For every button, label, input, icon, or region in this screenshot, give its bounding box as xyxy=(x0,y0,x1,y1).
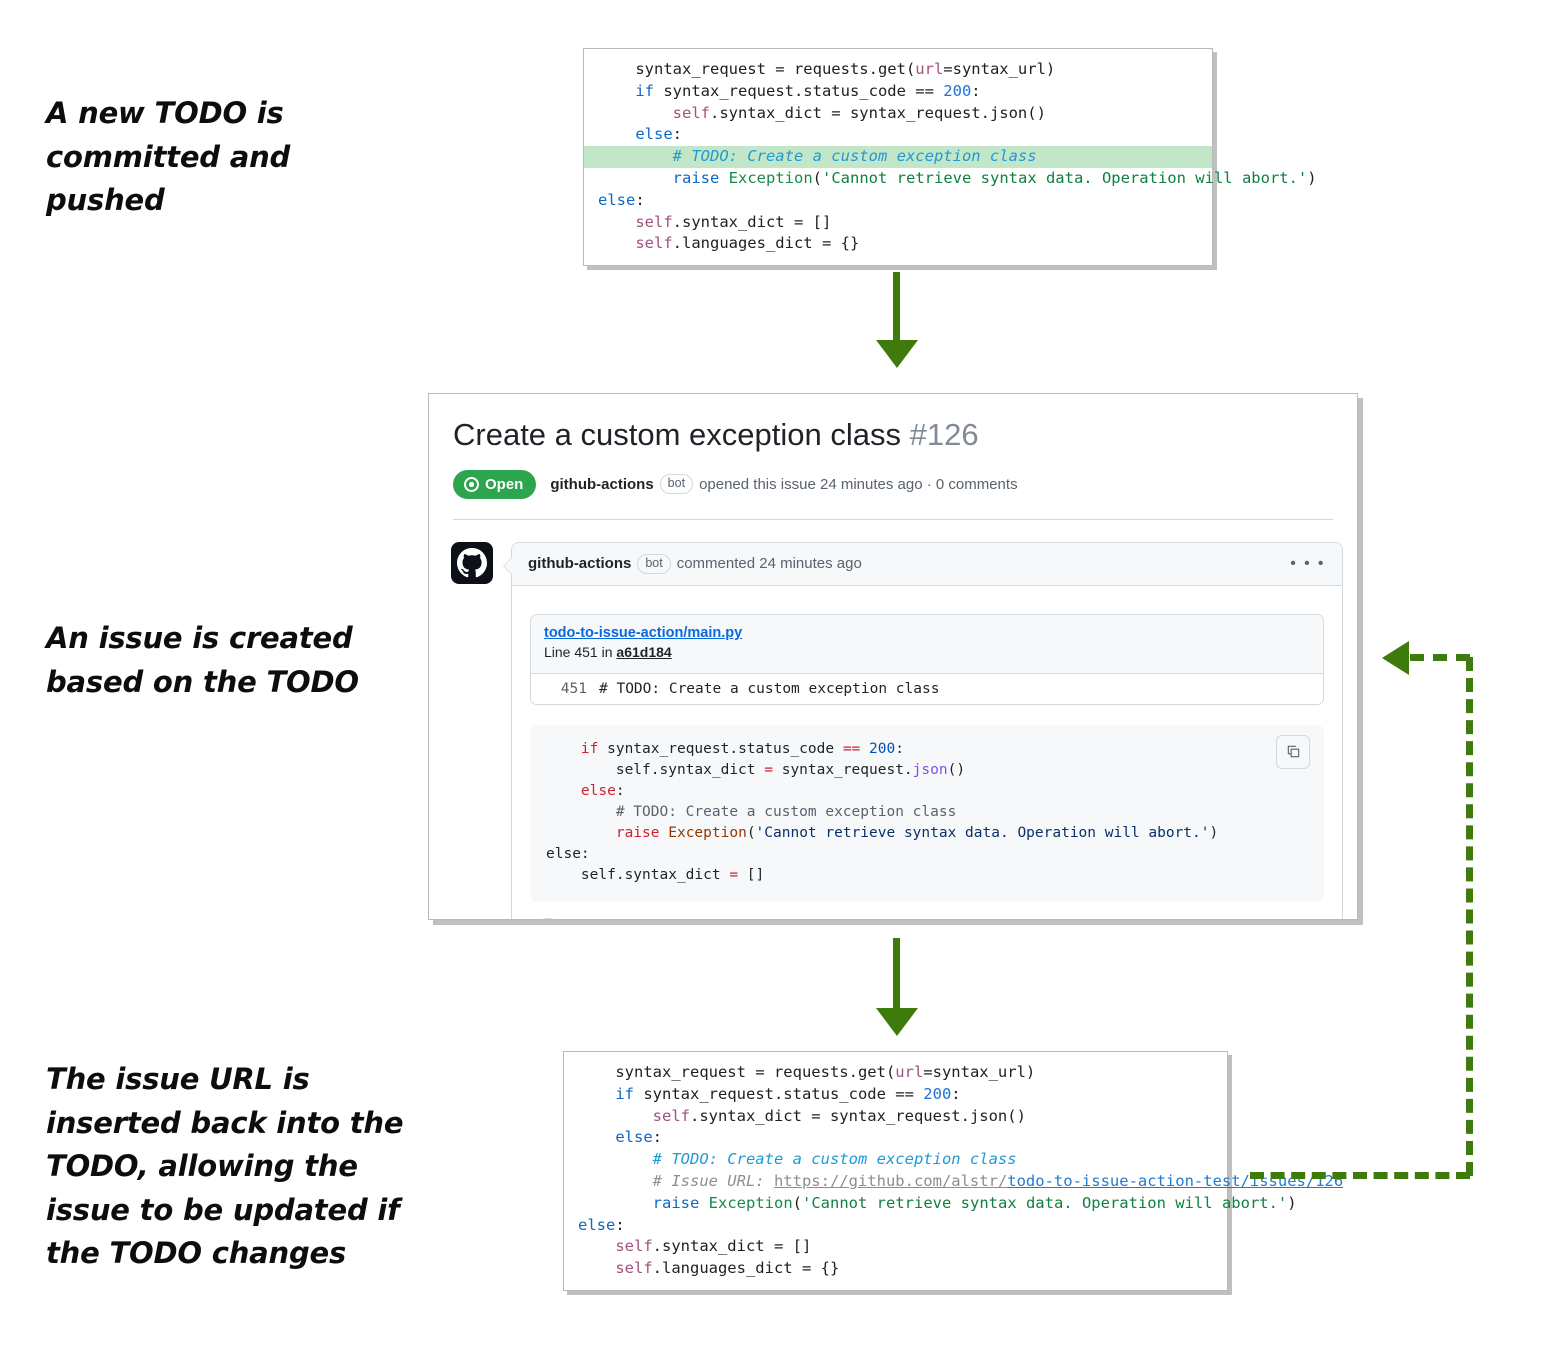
code-token: # Issue URL: xyxy=(578,1172,774,1190)
code-token xyxy=(578,1085,615,1103)
code-token: : xyxy=(653,1128,662,1146)
code-token xyxy=(598,169,673,187)
code-token: https://github.com/alstr/ xyxy=(774,1172,1007,1190)
code-line: else: xyxy=(584,124,1212,146)
code-token: Exception xyxy=(668,825,747,841)
code-token xyxy=(546,741,581,757)
code-token xyxy=(578,1237,615,1255)
diagram-canvas: A new TODO is committed and pushed An is… xyxy=(0,0,1543,1351)
comment-box: github-actions bot commented 24 minutes … xyxy=(511,542,1343,920)
copy-button[interactable] xyxy=(1276,735,1310,769)
code-fence-lines: if syntax_request.status_code == 200: se… xyxy=(530,739,1324,886)
arrow-down-commit-to-issue xyxy=(873,272,919,368)
code-token: if xyxy=(615,1085,634,1103)
snippet-header: todo-to-issue-action/main.py Line 451 in… xyxy=(531,615,1323,674)
code-fence: if syntax_request.status_code == 200: se… xyxy=(530,725,1324,902)
code-token xyxy=(578,1259,615,1277)
issue-meta-text: opened this issue 24 minutes ago · 0 com… xyxy=(699,476,1018,493)
issue-header: Create a custom exception class #126 Ope… xyxy=(429,394,1357,520)
fence-line: if syntax_request.status_code == 200: xyxy=(530,739,1324,760)
fence-line: else: xyxy=(530,781,1324,802)
code-token: else xyxy=(598,191,635,209)
status-badge-open[interactable]: Open xyxy=(453,470,536,499)
code-token: self xyxy=(635,213,672,231)
code-token: [] xyxy=(738,867,764,883)
code-token: : xyxy=(971,82,980,100)
code-line: # TODO: Create a custom exception class xyxy=(584,146,1212,168)
arrow-down-issue-to-update xyxy=(873,938,919,1038)
code-lines-before: syntax_request = requests.get(url=syntax… xyxy=(584,59,1212,255)
issue-number: #126 xyxy=(910,417,979,452)
comment-bot-label: bot xyxy=(637,554,670,574)
code-token: # TODO: Create a custom exception class xyxy=(598,147,1037,165)
code-token: self xyxy=(653,1107,690,1125)
code-token xyxy=(598,125,635,143)
code-line: else: xyxy=(564,1215,1227,1237)
code-token: else: xyxy=(546,846,590,862)
code-token: syntax_request. xyxy=(773,762,913,778)
issue-meta: Open github-actions bot opened this issu… xyxy=(453,470,1333,499)
snippet-commit-sha[interactable]: a61d184 xyxy=(616,644,671,660)
code-token: else xyxy=(578,1216,615,1234)
code-line: else: xyxy=(584,190,1212,212)
code-line: # Issue URL: https://github.com/alstr/to… xyxy=(564,1171,1227,1193)
code-token xyxy=(598,213,635,231)
code-token xyxy=(598,104,673,122)
fence-line: self.syntax_dict = [] xyxy=(530,865,1324,886)
code-token: 'Cannot retrieve syntax data. Operation … xyxy=(756,825,1210,841)
snippet-file-link[interactable]: todo-to-issue-action/main.py xyxy=(544,624,1310,644)
comment-author[interactable]: github-actions xyxy=(528,555,631,572)
code-token: () xyxy=(948,762,965,778)
code-token: raise xyxy=(616,825,660,841)
fence-line: raise Exception('Cannot retrieve syntax … xyxy=(530,823,1324,844)
caption-issue-url-inserted: The issue URL is inserted back into the … xyxy=(46,1058,416,1276)
code-line: raise Exception('Cannot retrieve syntax … xyxy=(584,168,1212,190)
code-token: ( xyxy=(793,1194,802,1212)
code-token: == xyxy=(843,741,860,757)
code-token: ) xyxy=(1210,825,1219,841)
code-token: syntax_request.status_code == xyxy=(654,82,943,100)
code-block-before: syntax_request = requests.get(url=syntax… xyxy=(583,48,1213,266)
code-token: : xyxy=(635,191,644,209)
code-token: raise xyxy=(673,169,720,187)
code-lines-after: syntax_request = requests.get(url=syntax… xyxy=(564,1062,1227,1280)
code-token: # TODO: Create a custom exception class xyxy=(578,1150,1017,1168)
code-token: .syntax_dict = [] xyxy=(653,1237,812,1255)
code-token xyxy=(598,234,635,252)
code-token xyxy=(578,1194,653,1212)
snippet-line-prefix: Line 451 in xyxy=(544,644,616,660)
code-token xyxy=(860,741,869,757)
code-token: 200 xyxy=(943,82,971,100)
code-token: .syntax_dict = syntax_request.json() xyxy=(690,1107,1026,1125)
code-token: 200 xyxy=(923,1085,951,1103)
code-token: if xyxy=(581,741,598,757)
issue-title: Create a custom exception class #126 xyxy=(453,416,1333,455)
code-token: : xyxy=(895,741,904,757)
code-line: if syntax_request.status_code == 200: xyxy=(564,1084,1227,1106)
snippet-code-row: 451 # TODO: Create a custom exception cl… xyxy=(531,674,1323,704)
copy-icon xyxy=(1286,744,1301,759)
code-token: url xyxy=(895,1063,923,1081)
code-line: syntax_request = requests.get(url=syntax… xyxy=(584,59,1212,81)
code-token xyxy=(699,1194,708,1212)
code-line: self.languages_dict = {} xyxy=(564,1258,1227,1280)
code-line: self.syntax_dict = [] xyxy=(564,1236,1227,1258)
code-reference-snippet: todo-to-issue-action/main.py Line 451 in… xyxy=(530,614,1324,705)
comment-body: todo-to-issue-action/main.py Line 451 in… xyxy=(512,586,1342,920)
code-token: ) xyxy=(1287,1194,1296,1212)
code-token: syntax_request.status_code xyxy=(598,741,842,757)
code-token xyxy=(546,783,581,799)
code-token: Exception xyxy=(729,169,813,187)
code-token xyxy=(546,825,616,841)
code-line: else: xyxy=(564,1127,1227,1149)
code-token: : xyxy=(615,1216,624,1234)
code-token: =syntax_url) xyxy=(923,1063,1035,1081)
bot-label: bot xyxy=(660,474,693,494)
code-token: .syntax_dict = [] xyxy=(673,213,832,231)
code-token xyxy=(598,82,635,100)
feedback-path-top xyxy=(1410,654,1470,661)
comment-row: github-actions bot commented 24 minutes … xyxy=(429,520,1357,920)
feedback-path-right xyxy=(1466,657,1473,1176)
code-token: syntax_request = requests.get( xyxy=(578,1063,895,1081)
code-line: if syntax_request.status_code == 200: xyxy=(584,81,1212,103)
github-issue-card: Create a custom exception class #126 Ope… xyxy=(428,393,1358,920)
code-block-after: syntax_request = requests.get(url=syntax… xyxy=(563,1051,1228,1291)
code-token: : xyxy=(616,783,625,799)
code-token: ( xyxy=(813,169,822,187)
code-token xyxy=(578,1107,653,1125)
code-token: self.syntax_dict xyxy=(546,762,764,778)
code-token: self.syntax_dict xyxy=(546,867,729,883)
code-line: self.syntax_dict = syntax_request.json() xyxy=(564,1106,1227,1128)
code-token: syntax_request.status_code == xyxy=(634,1085,923,1103)
code-token: raise xyxy=(653,1194,700,1212)
comment-header: github-actions bot commented 24 minutes … xyxy=(512,543,1342,586)
code-token: 'Cannot retrieve syntax data. Operation … xyxy=(802,1194,1287,1212)
code-token xyxy=(578,1128,615,1146)
code-token: .languages_dict = {} xyxy=(673,234,860,252)
code-line: syntax_request = requests.get(url=syntax… xyxy=(564,1062,1227,1084)
code-token: .syntax_dict = syntax_request.json() xyxy=(710,104,1046,122)
feedback-path-bottom xyxy=(1250,1172,1470,1179)
code-line: # TODO: Create a custom exception class xyxy=(564,1149,1227,1171)
code-token: ( xyxy=(747,825,756,841)
code-token xyxy=(660,825,669,841)
snippet-line-number: 451 xyxy=(531,681,599,697)
snippet-code-text: # TODO: Create a custom exception class xyxy=(599,681,939,697)
comment-meta-text: commented 24 minutes ago xyxy=(677,555,862,572)
code-token: : xyxy=(673,125,682,143)
code-line: self.languages_dict = {} xyxy=(584,233,1212,255)
code-token: = xyxy=(729,867,738,883)
code-token: : xyxy=(951,1085,960,1103)
caption-todo-committed: A new TODO is committed and pushed xyxy=(46,92,376,223)
issue-title-text: Create a custom exception class xyxy=(453,417,901,452)
avatar-github-actions[interactable] xyxy=(451,542,493,584)
caption-issue-created: An issue is created based on the TODO xyxy=(46,617,396,704)
code-token: url xyxy=(915,60,943,78)
code-token: self xyxy=(635,234,672,252)
code-token: =syntax_url) xyxy=(943,60,1055,78)
issue-author[interactable]: github-actions xyxy=(550,476,653,493)
code-token: # TODO: Create a custom exception class xyxy=(546,804,956,820)
code-token xyxy=(719,169,728,187)
fence-line: else: xyxy=(530,844,1324,865)
code-token: else xyxy=(581,783,616,799)
code-token: = xyxy=(764,762,773,778)
code-token: 'Cannot retrieve syntax data. Operation … xyxy=(822,169,1307,187)
status-badge-label: Open xyxy=(485,476,523,493)
add-reaction-button[interactable] xyxy=(532,918,564,920)
fence-line: # TODO: Create a custom exception class xyxy=(530,802,1324,823)
code-token: self xyxy=(615,1237,652,1255)
code-token: self xyxy=(615,1259,652,1277)
code-token: self xyxy=(673,104,710,122)
fence-line: self.syntax_dict = syntax_request.json() xyxy=(530,760,1324,781)
more-options-icon[interactable]: • • • xyxy=(1290,559,1326,569)
code-token: if xyxy=(635,82,654,100)
code-line: self.syntax_dict = syntax_request.json() xyxy=(584,103,1212,125)
code-line: self.syntax_dict = [] xyxy=(584,212,1212,234)
code-token: else xyxy=(615,1128,652,1146)
code-token: else xyxy=(635,125,672,143)
code-token: ) xyxy=(1307,169,1316,187)
feedback-arrow-head xyxy=(1382,641,1409,675)
code-line: raise Exception('Cannot retrieve syntax … xyxy=(564,1193,1227,1215)
code-token: syntax_request = requests.get( xyxy=(598,60,915,78)
github-octocat-icon xyxy=(457,548,487,578)
code-token: 200 xyxy=(869,741,895,757)
snippet-line-reference: Line 451 in a61d184 xyxy=(544,644,672,660)
code-token: json xyxy=(913,762,948,778)
code-token: Exception xyxy=(709,1194,793,1212)
issue-open-icon xyxy=(464,477,479,492)
code-token: .languages_dict = {} xyxy=(653,1259,840,1277)
